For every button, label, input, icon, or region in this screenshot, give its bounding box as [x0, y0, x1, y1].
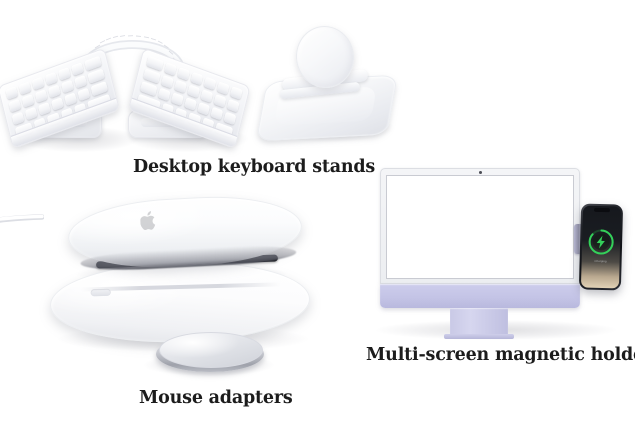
product-collage: Charging Desktop keyboard stands Mouse a… [0, 0, 635, 430]
magsafe-charging-puck [156, 332, 264, 374]
iphone-screen[interactable]: Charging [581, 206, 621, 289]
imac-bezel [380, 168, 580, 284]
magsafe-puck-surface [159, 332, 263, 368]
imac-screen[interactable] [386, 175, 574, 279]
caption-mouse-adapters: Mouse adapters [139, 388, 293, 408]
imac-stand-foot [444, 334, 514, 339]
caption-multi-screen-magnetic-holders: Multi-screen magnetic holders [366, 345, 635, 365]
multi-screen-magnetic-holder-product: Charging [362, 168, 635, 340]
oval-disc-stand-product [258, 22, 398, 142]
imac-chin [380, 284, 580, 308]
iphone-charging-status: Charging [595, 260, 607, 263]
iphone-notch [594, 207, 610, 211]
imac-webcam-icon [479, 171, 482, 174]
mouse-adapter-seam [81, 282, 281, 291]
imac-monitor [380, 168, 580, 308]
caption-desktop-keyboard-stands: Desktop keyboard stands [133, 157, 375, 177]
iphone-device: Charging [579, 203, 623, 290]
magsafe-charging-cable [0, 214, 44, 230]
mouse-adapter-port [91, 289, 111, 297]
upper-magic-mouse [66, 192, 303, 272]
imac-stand-neck [450, 308, 508, 336]
mouse-adapters-product [40, 192, 340, 382]
apple-logo-icon [140, 210, 158, 231]
desktop-keyboard-stands-product [0, 8, 250, 153]
wireless-charging-ring-icon [587, 228, 616, 257]
